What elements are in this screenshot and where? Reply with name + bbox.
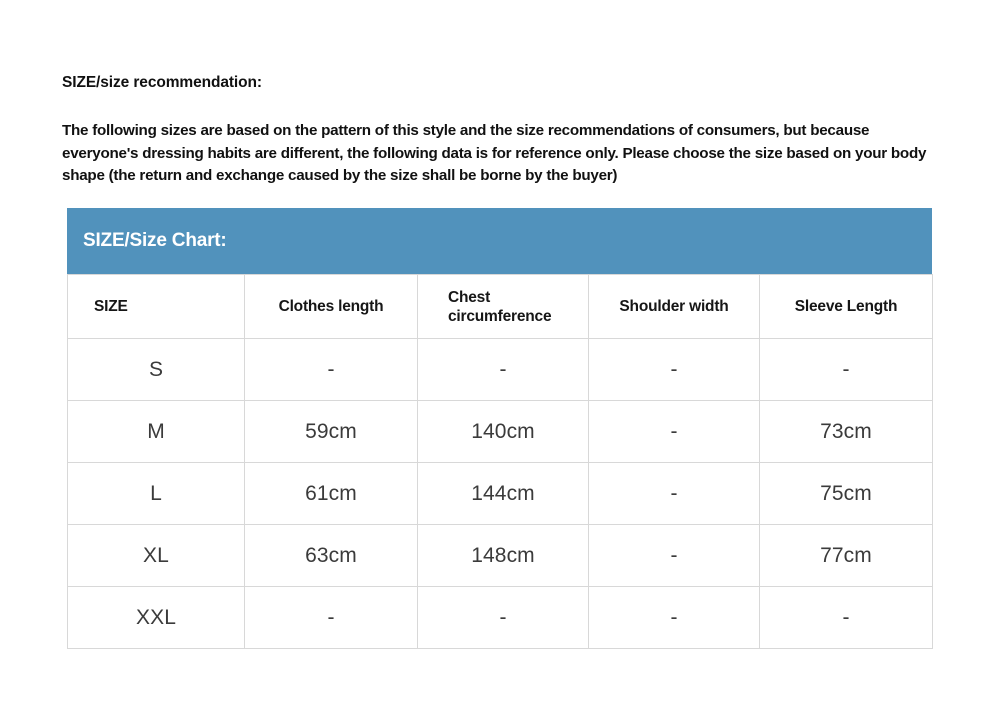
table-row: XL 63cm 148cm - 77cm <box>68 525 933 587</box>
cell-size: L <box>68 463 245 525</box>
cell-sleeve-length: 75cm <box>760 463 933 525</box>
cell-shoulder-width: - <box>589 339 760 401</box>
cell-size: XL <box>68 525 245 587</box>
cell-size: M <box>68 401 245 463</box>
cell-chest-circumference: - <box>418 587 589 649</box>
column-header-clothes-length: Clothes length <box>245 275 418 339</box>
column-header-sleeve-length: Sleeve Length <box>760 275 933 339</box>
page-title: SIZE/size recommendation: <box>62 74 262 92</box>
size-chart-banner-title: SIZE/Size Chart: <box>83 230 227 252</box>
cell-shoulder-width: - <box>589 463 760 525</box>
cell-clothes-length: 63cm <box>245 525 418 587</box>
cell-shoulder-width: - <box>589 587 760 649</box>
cell-size: S <box>68 339 245 401</box>
intro-paragraph: The following sizes are based on the pat… <box>62 120 934 188</box>
table-row: L 61cm 144cm - 75cm <box>68 463 933 525</box>
size-chart-container: SIZE/Size Chart: SIZE Clothes length Che… <box>67 208 932 649</box>
table-row: M 59cm 140cm - 73cm <box>68 401 933 463</box>
cell-size: XXL <box>68 587 245 649</box>
cell-chest-circumference: 144cm <box>418 463 589 525</box>
column-header-chest-circumference: Chest circumference <box>418 275 589 339</box>
cell-chest-circumference: 140cm <box>418 401 589 463</box>
size-chart-page: SIZE/size recommendation: The following … <box>0 0 1000 708</box>
table-row: S - - - - <box>68 339 933 401</box>
cell-clothes-length: 59cm <box>245 401 418 463</box>
column-header-shoulder-width: Shoulder width <box>589 275 760 339</box>
cell-sleeve-length: 73cm <box>760 401 933 463</box>
cell-clothes-length: - <box>245 587 418 649</box>
cell-shoulder-width: - <box>589 401 760 463</box>
cell-sleeve-length: - <box>760 587 933 649</box>
cell-chest-circumference: - <box>418 339 589 401</box>
cell-sleeve-length: - <box>760 339 933 401</box>
cell-sleeve-length: 77cm <box>760 525 933 587</box>
size-chart-banner: SIZE/Size Chart: <box>67 208 932 274</box>
cell-clothes-length: - <box>245 339 418 401</box>
size-chart-table: SIZE Clothes length Chest circumference … <box>67 274 933 649</box>
cell-shoulder-width: - <box>589 525 760 587</box>
cell-chest-circumference: 148cm <box>418 525 589 587</box>
size-chart-header-row: SIZE Clothes length Chest circumference … <box>68 275 933 339</box>
table-row: XXL - - - - <box>68 587 933 649</box>
cell-clothes-length: 61cm <box>245 463 418 525</box>
column-header-size: SIZE <box>68 275 245 339</box>
size-chart-body: S - - - - M 59cm 140cm - 73cm L 61cm 144… <box>68 339 933 649</box>
